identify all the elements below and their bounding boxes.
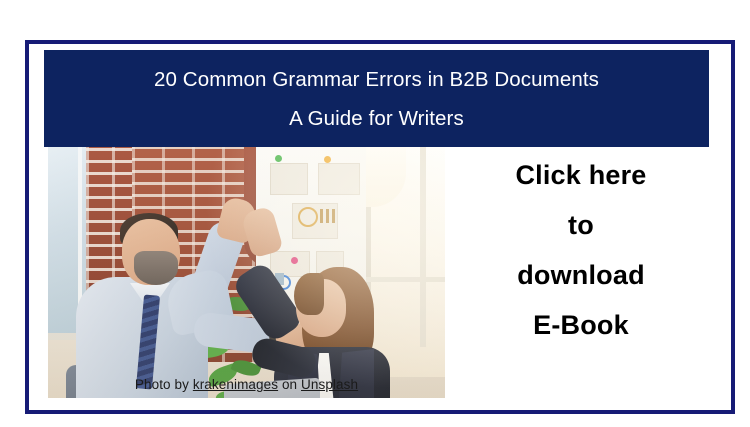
cta-line-3[interactable]: download — [453, 262, 709, 289]
board-pie-chart — [298, 207, 318, 227]
office-celebration-photo — [48, 147, 445, 398]
board-pin-pink — [291, 257, 298, 264]
board-pin-green — [275, 155, 282, 162]
cta-line-1[interactable]: Click here — [453, 162, 709, 189]
board-bar-chart — [320, 209, 340, 223]
woman-hair-front — [294, 273, 324, 315]
photo-credit: Photo by krakenimages on Unsplash — [48, 377, 445, 392]
right-window-mullion-vertical — [420, 147, 426, 347]
board-note — [270, 163, 308, 195]
credit-middle: on — [278, 377, 301, 392]
banner-inner-canvas: 20 Common Grammar Errors in B2B Document… — [29, 44, 731, 410]
cta-line-2[interactable]: to — [453, 212, 709, 239]
title-line-2: A Guide for Writers — [289, 109, 464, 130]
outer-border-frame: 20 Common Grammar Errors in B2B Document… — [25, 40, 735, 414]
cta-line-4[interactable]: E-Book — [453, 312, 709, 339]
board-pin-orange — [324, 156, 331, 163]
credit-prefix: Photo by — [135, 377, 193, 392]
title-banner: 20 Common Grammar Errors in B2B Document… — [44, 50, 709, 147]
board-note — [318, 163, 360, 195]
ebook-promo-banner: 20 Common Grammar Errors in B2B Document… — [0, 0, 750, 427]
title-line-1: 20 Common Grammar Errors in B2B Document… — [154, 70, 599, 91]
photo-illustration — [48, 147, 445, 398]
right-window-mullion-horizontal — [366, 277, 445, 282]
cta-block[interactable]: Click here to download E-Book — [453, 162, 709, 339]
credit-author-link[interactable]: krakenimages — [193, 377, 278, 392]
man-beard — [134, 251, 178, 285]
credit-source-link[interactable]: Unsplash — [301, 377, 358, 392]
